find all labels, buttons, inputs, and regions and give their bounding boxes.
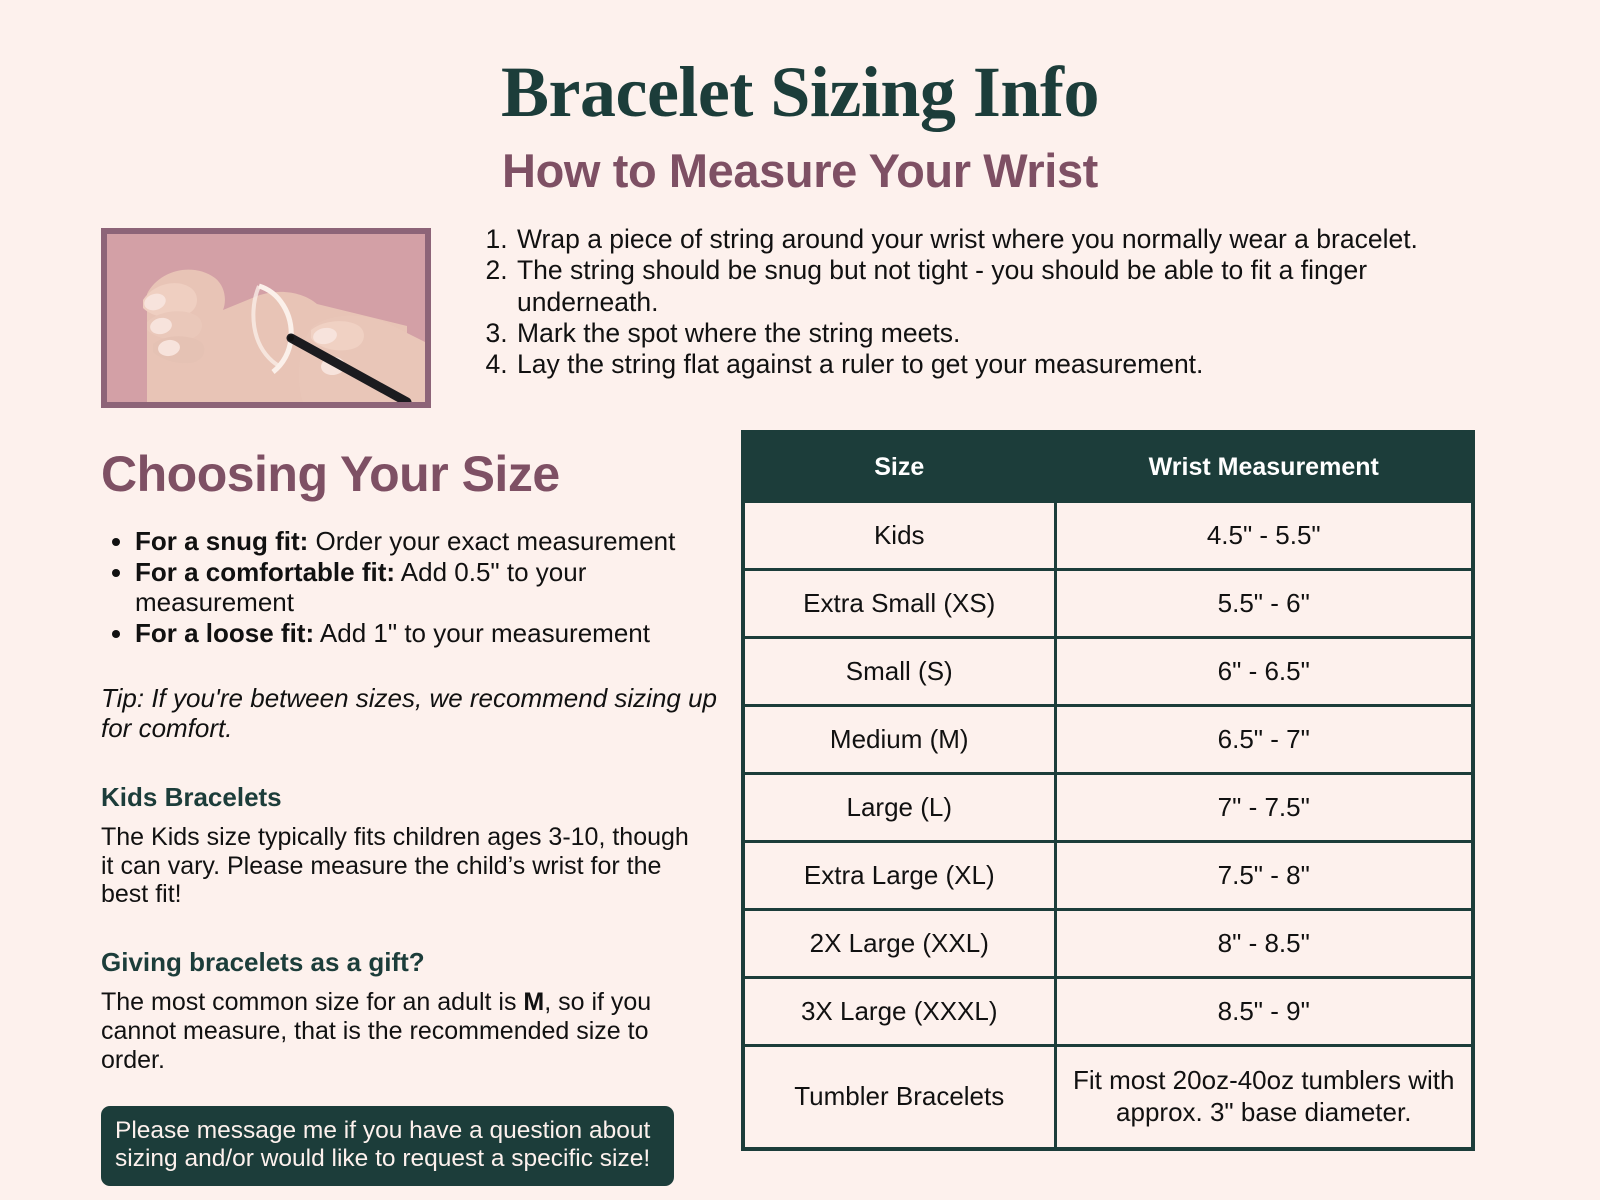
cell-size: 3X Large (XXXL) bbox=[743, 978, 1055, 1046]
fit-option-loose-label: For a loose fit: bbox=[135, 618, 314, 648]
cell-measurement: 8.5" - 9" bbox=[1055, 978, 1473, 1046]
column-header-measurement: Wrist Measurement bbox=[1055, 432, 1473, 502]
fit-options-list: For a snug fit: Order your exact measure… bbox=[101, 527, 731, 650]
cell-size: Large (L) bbox=[743, 774, 1055, 842]
fit-option-loose: For a loose fit: Add 1" to your measurem… bbox=[135, 619, 731, 649]
contact-callout[interactable]: Please message me if you have a question… bbox=[101, 1106, 674, 1185]
choosing-size-section: Choosing Your Size For a snug fit: Order… bbox=[101, 448, 731, 1186]
table-row: Medium (M) 6.5" - 7" bbox=[743, 706, 1473, 774]
cell-measurement: 6.5" - 7" bbox=[1055, 706, 1473, 774]
gift-body-before: The most common size for an adult is bbox=[101, 988, 523, 1016]
cell-measurement: 7.5" - 8" bbox=[1055, 842, 1473, 910]
table-row: Small (S) 6" - 6.5" bbox=[743, 638, 1473, 706]
measure-step-3: Mark the spot where the string meets. bbox=[515, 318, 1465, 349]
cell-measurement: 5.5" - 6" bbox=[1055, 570, 1473, 638]
measure-step-1: Wrap a piece of string around your wrist… bbox=[515, 224, 1465, 255]
table-header-row: Size Wrist Measurement bbox=[743, 432, 1473, 502]
table-row: Extra Large (XL) 7.5" - 8" bbox=[743, 842, 1473, 910]
measure-instructions-row: Wrap a piece of string around your wrist… bbox=[0, 224, 1600, 414]
table-row: Extra Small (XS) 5.5" - 6" bbox=[743, 570, 1473, 638]
choosing-size-heading: Choosing Your Size bbox=[101, 448, 731, 501]
cell-measurement: 4.5" - 5.5" bbox=[1055, 502, 1473, 570]
gift-recommended-size: M bbox=[523, 988, 544, 1016]
cell-measurement: Fit most 20oz-40oz tumblers with approx.… bbox=[1055, 1046, 1473, 1150]
wrist-measuring-illustration bbox=[107, 234, 425, 402]
cell-size: 2X Large (XXL) bbox=[743, 910, 1055, 978]
page-subtitle: How to Measure Your Wrist bbox=[0, 128, 1600, 195]
page-title: Bracelet Sizing Info bbox=[0, 0, 1600, 128]
gift-body: The most common size for an adult is M, … bbox=[101, 988, 701, 1074]
table-row: Large (L) 7" - 7.5" bbox=[743, 774, 1473, 842]
column-header-size: Size bbox=[743, 432, 1055, 502]
cell-size: Tumbler Bracelets bbox=[743, 1046, 1055, 1150]
measure-step-2: The string should be snug but not tight … bbox=[515, 255, 1465, 318]
size-chart-table: Size Wrist Measurement Kids 4.5" - 5.5" … bbox=[741, 430, 1475, 1151]
size-chart-body: Kids 4.5" - 5.5" Extra Small (XS) 5.5" -… bbox=[743, 502, 1473, 1150]
cell-size: Small (S) bbox=[743, 638, 1055, 706]
measure-steps-list: Wrap a piece of string around your wrist… bbox=[487, 224, 1465, 380]
table-row: Tumbler Bracelets Fit most 20oz-40oz tum… bbox=[743, 1046, 1473, 1150]
fit-option-comfortable-label: For a comfortable fit: bbox=[135, 557, 395, 587]
fit-option-snug: For a snug fit: Order your exact measure… bbox=[135, 527, 731, 557]
fit-option-loose-text: Add 1" to your measurement bbox=[314, 618, 650, 648]
cell-measurement: 6" - 6.5" bbox=[1055, 638, 1473, 706]
cell-measurement: 7" - 7.5" bbox=[1055, 774, 1473, 842]
fit-option-comfortable: For a comfortable fit: Add 0.5" to your … bbox=[135, 558, 731, 617]
size-chart-header: Size Wrist Measurement bbox=[743, 432, 1473, 502]
kids-bracelets-heading: Kids Bracelets bbox=[101, 782, 731, 813]
table-row: Kids 4.5" - 5.5" bbox=[743, 502, 1473, 570]
wrist-measuring-photo bbox=[101, 228, 431, 408]
cell-size: Kids bbox=[743, 502, 1055, 570]
table-row: 2X Large (XXL) 8" - 8.5" bbox=[743, 910, 1473, 978]
table-row: 3X Large (XXXL) 8.5" - 9" bbox=[743, 978, 1473, 1046]
cell-size: Extra Small (XS) bbox=[743, 570, 1055, 638]
sizing-tip: Tip: If you're between sizes, we recomme… bbox=[101, 683, 726, 744]
cell-measurement: 8" - 8.5" bbox=[1055, 910, 1473, 978]
measure-step-4: Lay the string flat against a ruler to g… bbox=[515, 349, 1465, 380]
fit-option-snug-label: For a snug fit: bbox=[135, 526, 308, 556]
size-chart-container: Size Wrist Measurement Kids 4.5" - 5.5" … bbox=[741, 430, 1471, 1151]
cell-size: Medium (M) bbox=[743, 706, 1055, 774]
gift-heading: Giving bracelets as a gift? bbox=[101, 947, 731, 978]
cell-size: Extra Large (XL) bbox=[743, 842, 1055, 910]
kids-bracelets-body: The Kids size typically fits children ag… bbox=[101, 823, 701, 909]
photo-background bbox=[107, 234, 425, 402]
fit-option-snug-text: Order your exact measurement bbox=[308, 526, 675, 556]
